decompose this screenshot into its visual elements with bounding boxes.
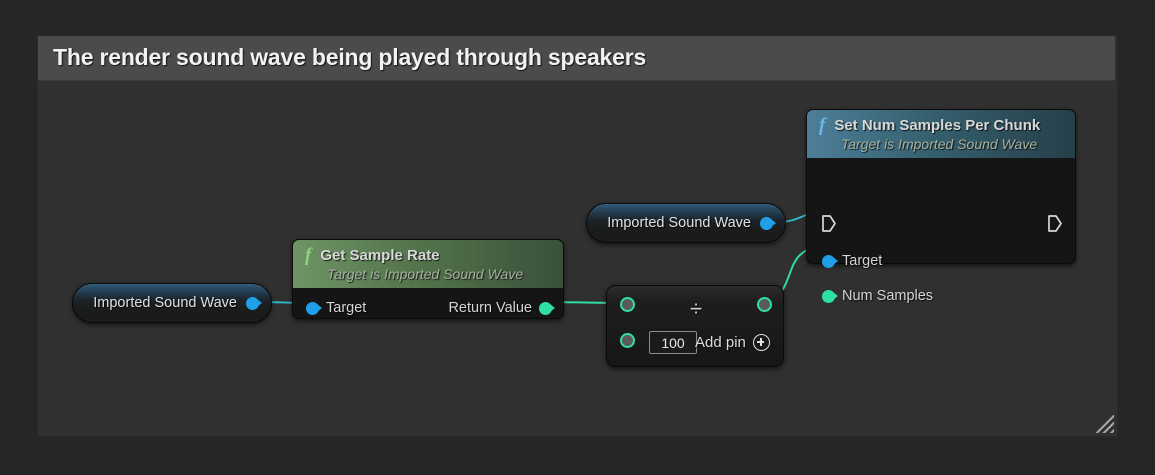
output-pin-label: Return Value <box>448 300 532 316</box>
node-get-sample-rate[interactable]: f Get Sample Rate Target is Imported Sou… <box>292 239 564 319</box>
add-circle-icon[interactable] <box>753 334 770 351</box>
return-value-pin-dot[interactable] <box>539 302 552 315</box>
divide-input-pin-b[interactable] <box>620 333 635 348</box>
input-pin-num-samples[interactable]: Num Samples <box>822 288 933 304</box>
variable-node-imported-sound-wave-left[interactable]: Imported Sound Wave <box>72 283 272 323</box>
divide-input-pin-a[interactable] <box>620 297 635 312</box>
node-header: f Get Sample Rate Target is Imported Sou… <box>293 240 563 288</box>
node-header: f Set Num Samples Per Chunk Target is Im… <box>807 110 1075 158</box>
node-set-num-samples-per-chunk[interactable]: f Set Num Samples Per Chunk Target is Im… <box>806 109 1076 264</box>
variable-node-label: Imported Sound Wave <box>93 295 237 311</box>
sound-wave-output-pin[interactable] <box>246 297 259 310</box>
output-pin-return-value[interactable]: Return Value <box>448 300 552 316</box>
add-pin-button[interactable]: Add pin <box>695 334 770 351</box>
comment-panel-titlebar[interactable]: The render sound wave being played throu… <box>38 36 1115 81</box>
node-title: Set Num Samples Per Chunk <box>834 117 1040 134</box>
divide-value-input[interactable]: 100 <box>649 331 697 354</box>
input-pin-label: Target <box>326 300 366 316</box>
input-pin-label: Num Samples <box>842 288 933 304</box>
node-title: Get Sample Rate <box>320 247 439 264</box>
divide-output-pin[interactable] <box>757 297 772 312</box>
target-pin-dot[interactable] <box>822 255 835 268</box>
input-pin-target[interactable]: Target <box>822 253 882 269</box>
variable-node-imported-sound-wave-right[interactable]: Imported Sound Wave <box>586 203 786 243</box>
num-samples-pin-dot[interactable] <box>822 290 835 303</box>
input-pin-target[interactable]: Target <box>306 300 366 316</box>
node-divide[interactable]: ÷ 100 Add pin <box>606 285 784 367</box>
target-pin-dot[interactable] <box>306 302 319 315</box>
comment-panel-title: The render sound wave being played throu… <box>53 44 646 71</box>
divide-operator-icon: ÷ <box>687 300 705 320</box>
sound-wave-output-pin[interactable] <box>760 217 773 230</box>
function-icon: f <box>819 116 825 135</box>
resize-grip-icon[interactable] <box>1096 415 1114 433</box>
function-icon: f <box>305 246 311 265</box>
variable-node-label: Imported Sound Wave <box>607 215 751 231</box>
node-subtitle: Target is Imported Sound Wave <box>841 136 1065 152</box>
node-subtitle: Target is Imported Sound Wave <box>327 266 553 282</box>
input-pin-label: Target <box>842 253 882 269</box>
add-pin-label: Add pin <box>695 334 746 351</box>
